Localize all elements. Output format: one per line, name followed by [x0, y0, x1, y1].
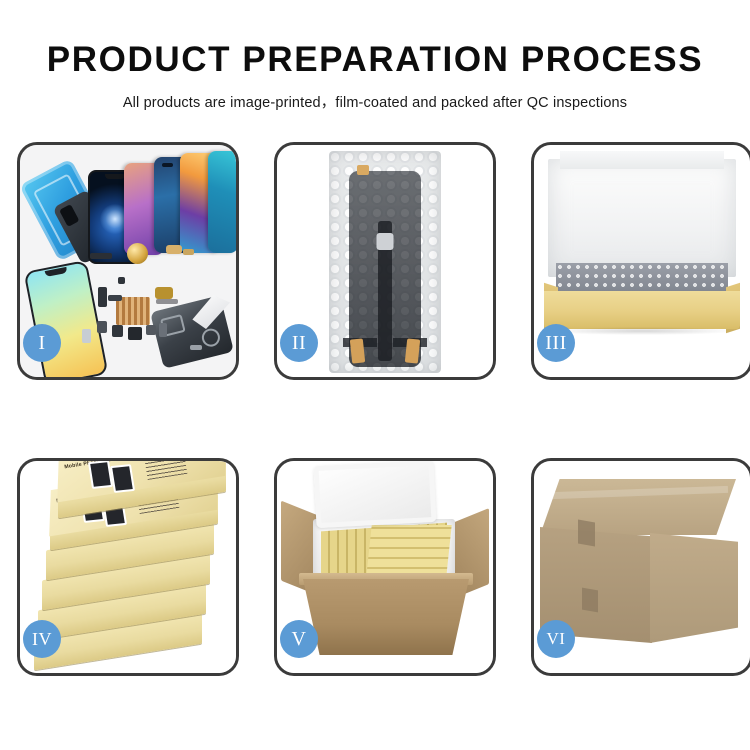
page-title: PRODUCT PREPARATION PROCESS — [0, 0, 750, 77]
process-step-panel-3[interactable]: III — [531, 142, 750, 380]
spare-part-icon — [90, 253, 112, 259]
gold-speaker-icon — [127, 243, 148, 264]
carton-tape-icon — [578, 520, 595, 547]
process-step-grid: I II — [17, 142, 733, 676]
carton-body-icon — [303, 579, 469, 655]
connector-chip-icon — [116, 297, 150, 325]
spare-part-icon — [155, 287, 173, 299]
spare-part-icon — [98, 287, 107, 307]
header: PRODUCT PREPARATION PROCESS All products… — [0, 0, 750, 112]
step-badge-5: V — [280, 620, 318, 658]
mailer-box-lid-icon — [548, 159, 736, 277]
step-badge-1: I — [23, 324, 61, 362]
step-badge-3: III — [537, 324, 575, 362]
process-step-panel-5[interactable]: V — [274, 458, 496, 676]
page-subtitle: All products are image-printed，film-coat… — [0, 77, 750, 112]
mailer-box-flap-icon — [560, 151, 724, 169]
foam-lid-icon — [313, 461, 436, 528]
mailer-box-tray-icon — [544, 291, 740, 329]
spare-part-icon — [166, 245, 182, 254]
spare-part-icon — [156, 299, 178, 304]
spare-part-icon — [108, 295, 122, 301]
spare-part-icon — [97, 321, 107, 333]
drop-shadow — [550, 327, 734, 335]
step-badge-6: VI — [537, 620, 575, 658]
bubble-wrap-bag-icon — [329, 151, 441, 373]
connector-icon — [377, 233, 394, 250]
spare-part-icon — [128, 327, 142, 340]
spare-part-icon — [112, 325, 123, 337]
spare-part-icon — [190, 345, 202, 350]
process-step-panel-2[interactable]: II — [274, 142, 496, 380]
process-step-panel-1[interactable]: I — [17, 142, 239, 380]
step-badge-4: IV — [23, 620, 61, 658]
process-step-panel-4[interactable]: Mobile Phone Spare Parts Mobile Phone Sp… — [17, 458, 239, 676]
step-badge-2: II — [280, 324, 318, 362]
phone-teal-icon — [208, 151, 236, 253]
spare-part-icon — [183, 249, 194, 255]
process-step-panel-6[interactable]: VI — [531, 458, 750, 676]
tape-icon — [357, 165, 369, 175]
retail-box-product-image — [110, 464, 135, 493]
packed-retail-boxes-icon — [366, 525, 451, 577]
spare-part-icon — [118, 277, 125, 284]
carton-side-icon — [650, 533, 738, 643]
tape-icon — [350, 338, 365, 363]
retail-box-product-image — [88, 461, 113, 489]
tape-icon — [405, 338, 420, 363]
spare-part-icon — [146, 325, 156, 335]
spare-part-icon — [159, 323, 167, 337]
carton-tape-icon — [582, 588, 598, 613]
spare-part-icon — [82, 329, 91, 343]
